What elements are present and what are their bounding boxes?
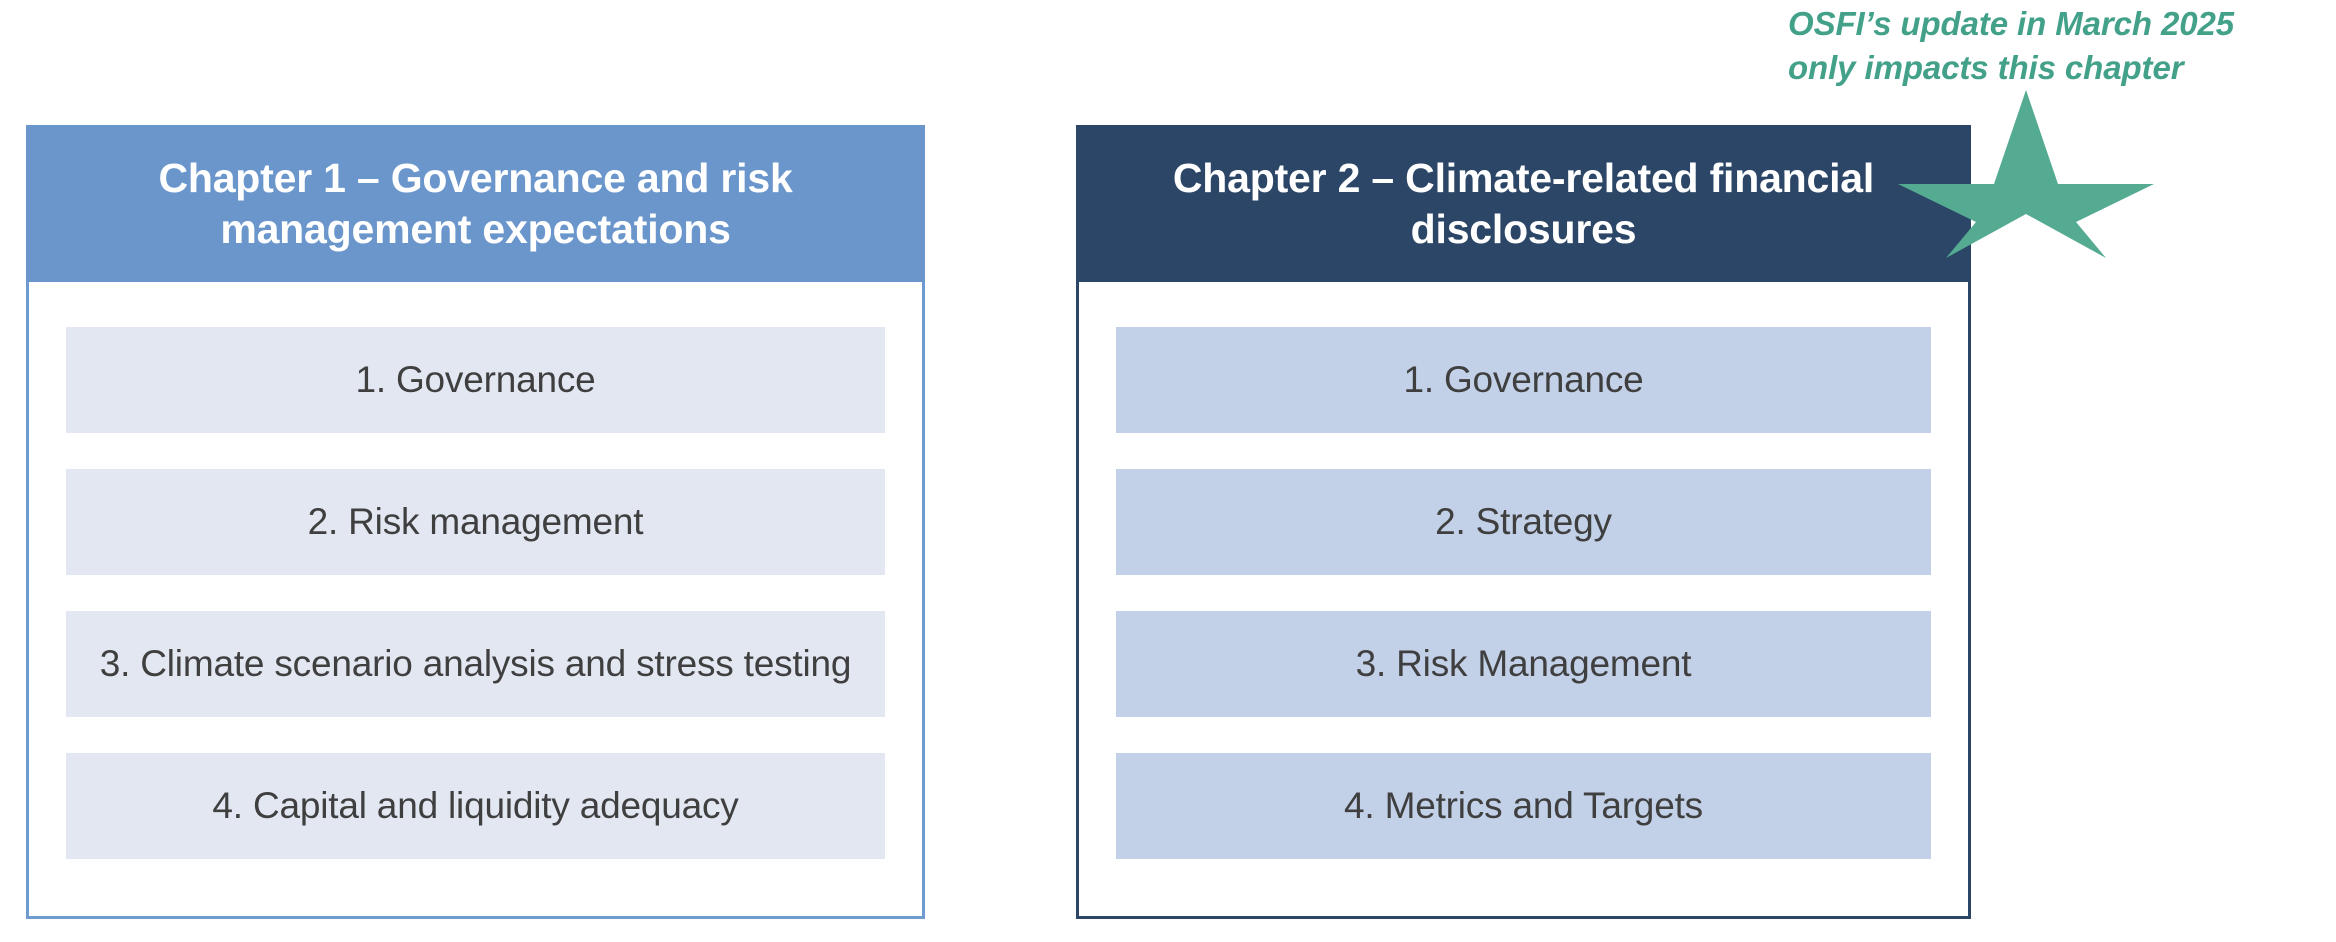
chapter-1-item-4[interactable]: 4. Capital and liquidity adequacy xyxy=(66,753,885,859)
slide-canvas: Chapter 1 – Governance and risk manageme… xyxy=(0,0,2336,942)
chapter-2-item-2[interactable]: 2. Strategy xyxy=(1116,469,1931,575)
chapter-1-title: Chapter 1 – Governance and risk manageme… xyxy=(26,125,925,282)
chapter-2-item-list: 1. Governance 2. Strategy 3. Risk Manage… xyxy=(1079,282,1968,916)
item-label: 3. Climate scenario analysis and stress … xyxy=(100,643,852,685)
chapter-1-card[interactable]: Chapter 1 – Governance and risk manageme… xyxy=(26,125,925,919)
chapter-1-item-3[interactable]: 3. Climate scenario analysis and stress … xyxy=(66,611,885,717)
callout-note-line-1: OSFI’s update in March 2025 xyxy=(1788,2,2328,46)
chapter-2-item-3[interactable]: 3. Risk Management xyxy=(1116,611,1931,717)
chapter-2-title: Chapter 2 – Climate-related financial di… xyxy=(1076,125,1971,282)
chapter-2-item-1[interactable]: 1. Governance xyxy=(1116,327,1931,433)
item-label: 1. Governance xyxy=(1403,359,1643,401)
item-label: 4. Capital and liquidity adequacy xyxy=(212,785,738,827)
item-label: 2. Strategy xyxy=(1435,501,1612,543)
item-label: 4. Metrics and Targets xyxy=(1344,785,1703,827)
chapter-1-item-2[interactable]: 2. Risk management xyxy=(66,469,885,575)
callout-note: OSFI’s update in March 2025 only impacts… xyxy=(1788,2,2328,89)
chapter-1-item-list: 1. Governance 2. Risk management 3. Clim… xyxy=(29,282,922,916)
item-label: 2. Risk management xyxy=(308,501,644,543)
chapter-2-card[interactable]: Chapter 2 – Climate-related financial di… xyxy=(1076,125,1971,919)
item-label: 3. Risk Management xyxy=(1356,643,1692,685)
chapter-2-item-4[interactable]: 4. Metrics and Targets xyxy=(1116,753,1931,859)
callout-note-line-2: only impacts this chapter xyxy=(1788,46,2328,90)
star-icon xyxy=(1898,88,2154,260)
item-label: 1. Governance xyxy=(355,359,595,401)
chapter-1-item-1[interactable]: 1. Governance xyxy=(66,327,885,433)
